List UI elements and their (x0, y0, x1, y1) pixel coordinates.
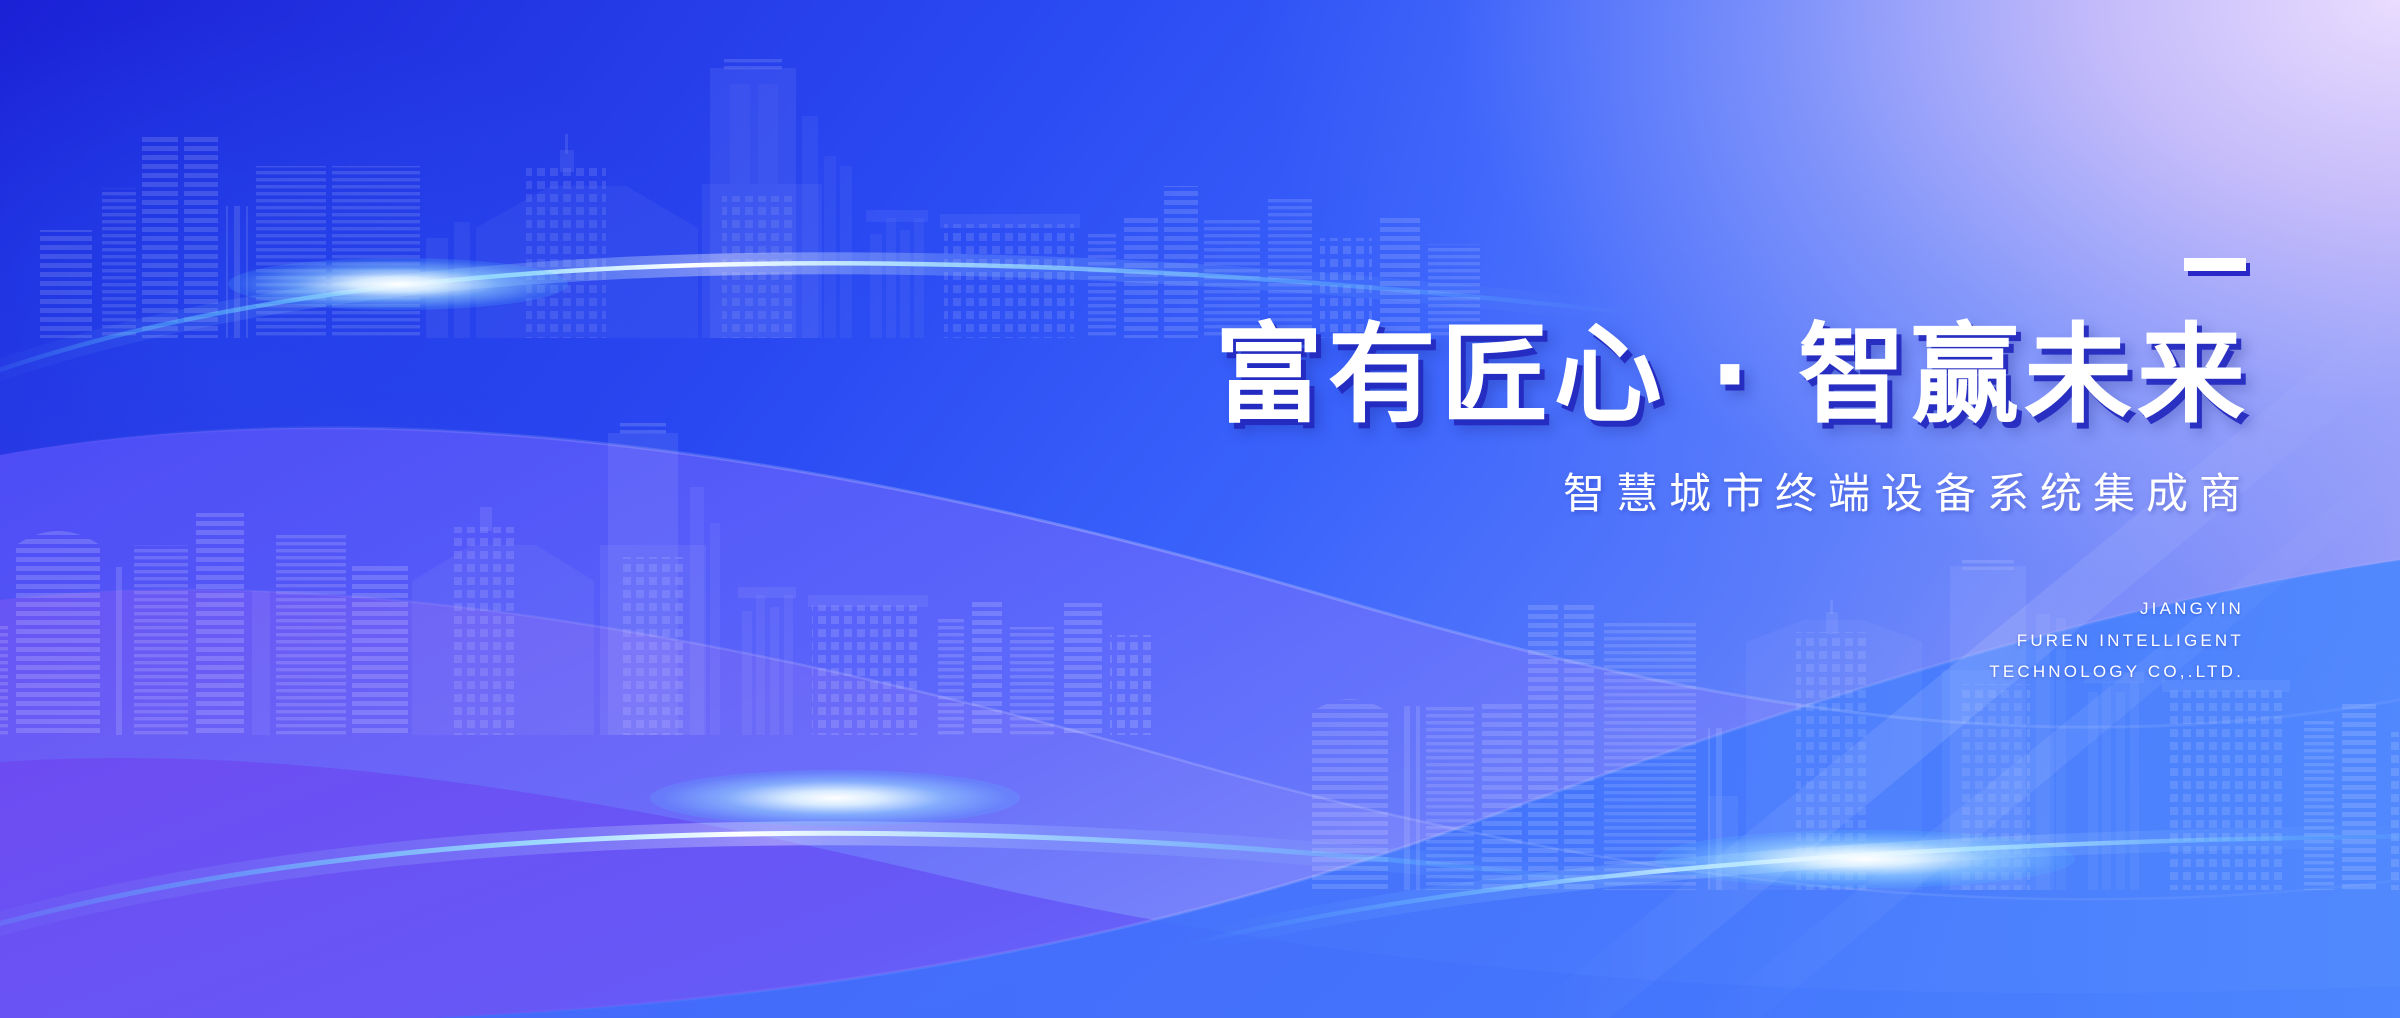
accent-dash-rule (2184, 258, 2246, 271)
company-name-block: JIANGYIN FUREN INTELLIGENT TECHNOLOGY CO… (1074, 593, 2254, 687)
skyline-mid-icon (0, 395, 1160, 735)
company-name-line-2: FUREN INTELLIGENT (1074, 625, 2244, 656)
marketing-banner: 富有匠心 · 智赢未来 智慧城市终端设备系统集成商 JIANGYIN FUREN… (0, 0, 2400, 1018)
company-name-line-3: TECHNOLOGY CO,.LTD. (1074, 656, 2244, 687)
banner-content: 富有匠心 · 智赢未来 智慧城市终端设备系统集成商 JIANGYIN FUREN… (1074, 258, 2254, 688)
banner-subtitle: 智慧城市终端设备系统集成商 (1074, 460, 2254, 521)
page-title: 富有匠心 · 智赢未来 (1074, 320, 2250, 432)
company-name-line-1: JIANGYIN (1074, 593, 2244, 624)
